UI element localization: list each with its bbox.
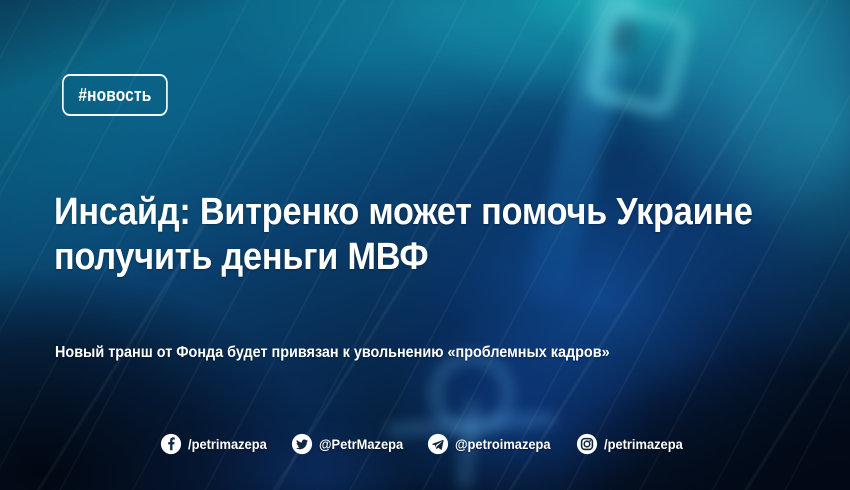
headline-line-1: Инсайд: Витренко может помочь Украине xyxy=(54,190,684,235)
social-link-instagram[interactable]: /petrimazepa xyxy=(576,433,690,455)
social-link-telegram[interactable]: @petroimazepa xyxy=(427,433,559,455)
twitter-icon xyxy=(291,433,313,455)
page-title: Инсайд: Витренко может помочь Украине по… xyxy=(54,190,684,280)
instagram-icon xyxy=(576,433,598,455)
telegram-icon xyxy=(427,433,449,455)
twitter-handle: @PetrMazepa xyxy=(319,436,403,452)
hashtag-badge[interactable]: #новость xyxy=(62,74,168,116)
telegram-handle: @petroimazepa xyxy=(455,436,551,452)
social-link-twitter[interactable]: @PetrMazepa xyxy=(291,433,410,455)
card-content: #новость Инсайд: Витренко может помочь У… xyxy=(0,0,850,490)
subtitle-text: Новый транш от Фонда будет привязан к ув… xyxy=(55,344,610,362)
headline-line-2: получить деньги МВФ xyxy=(54,235,684,280)
social-link-facebook[interactable]: /petrimazepa xyxy=(160,433,274,455)
news-banner-card: #новость Инсайд: Витренко может помочь У… xyxy=(0,0,850,490)
instagram-handle: /petrimazepa xyxy=(604,436,683,452)
social-links-bar: /petrimazepa @PetrMazepa @petroimazepa xyxy=(0,433,850,455)
facebook-handle: /petrimazepa xyxy=(188,436,267,452)
facebook-icon xyxy=(160,433,182,455)
